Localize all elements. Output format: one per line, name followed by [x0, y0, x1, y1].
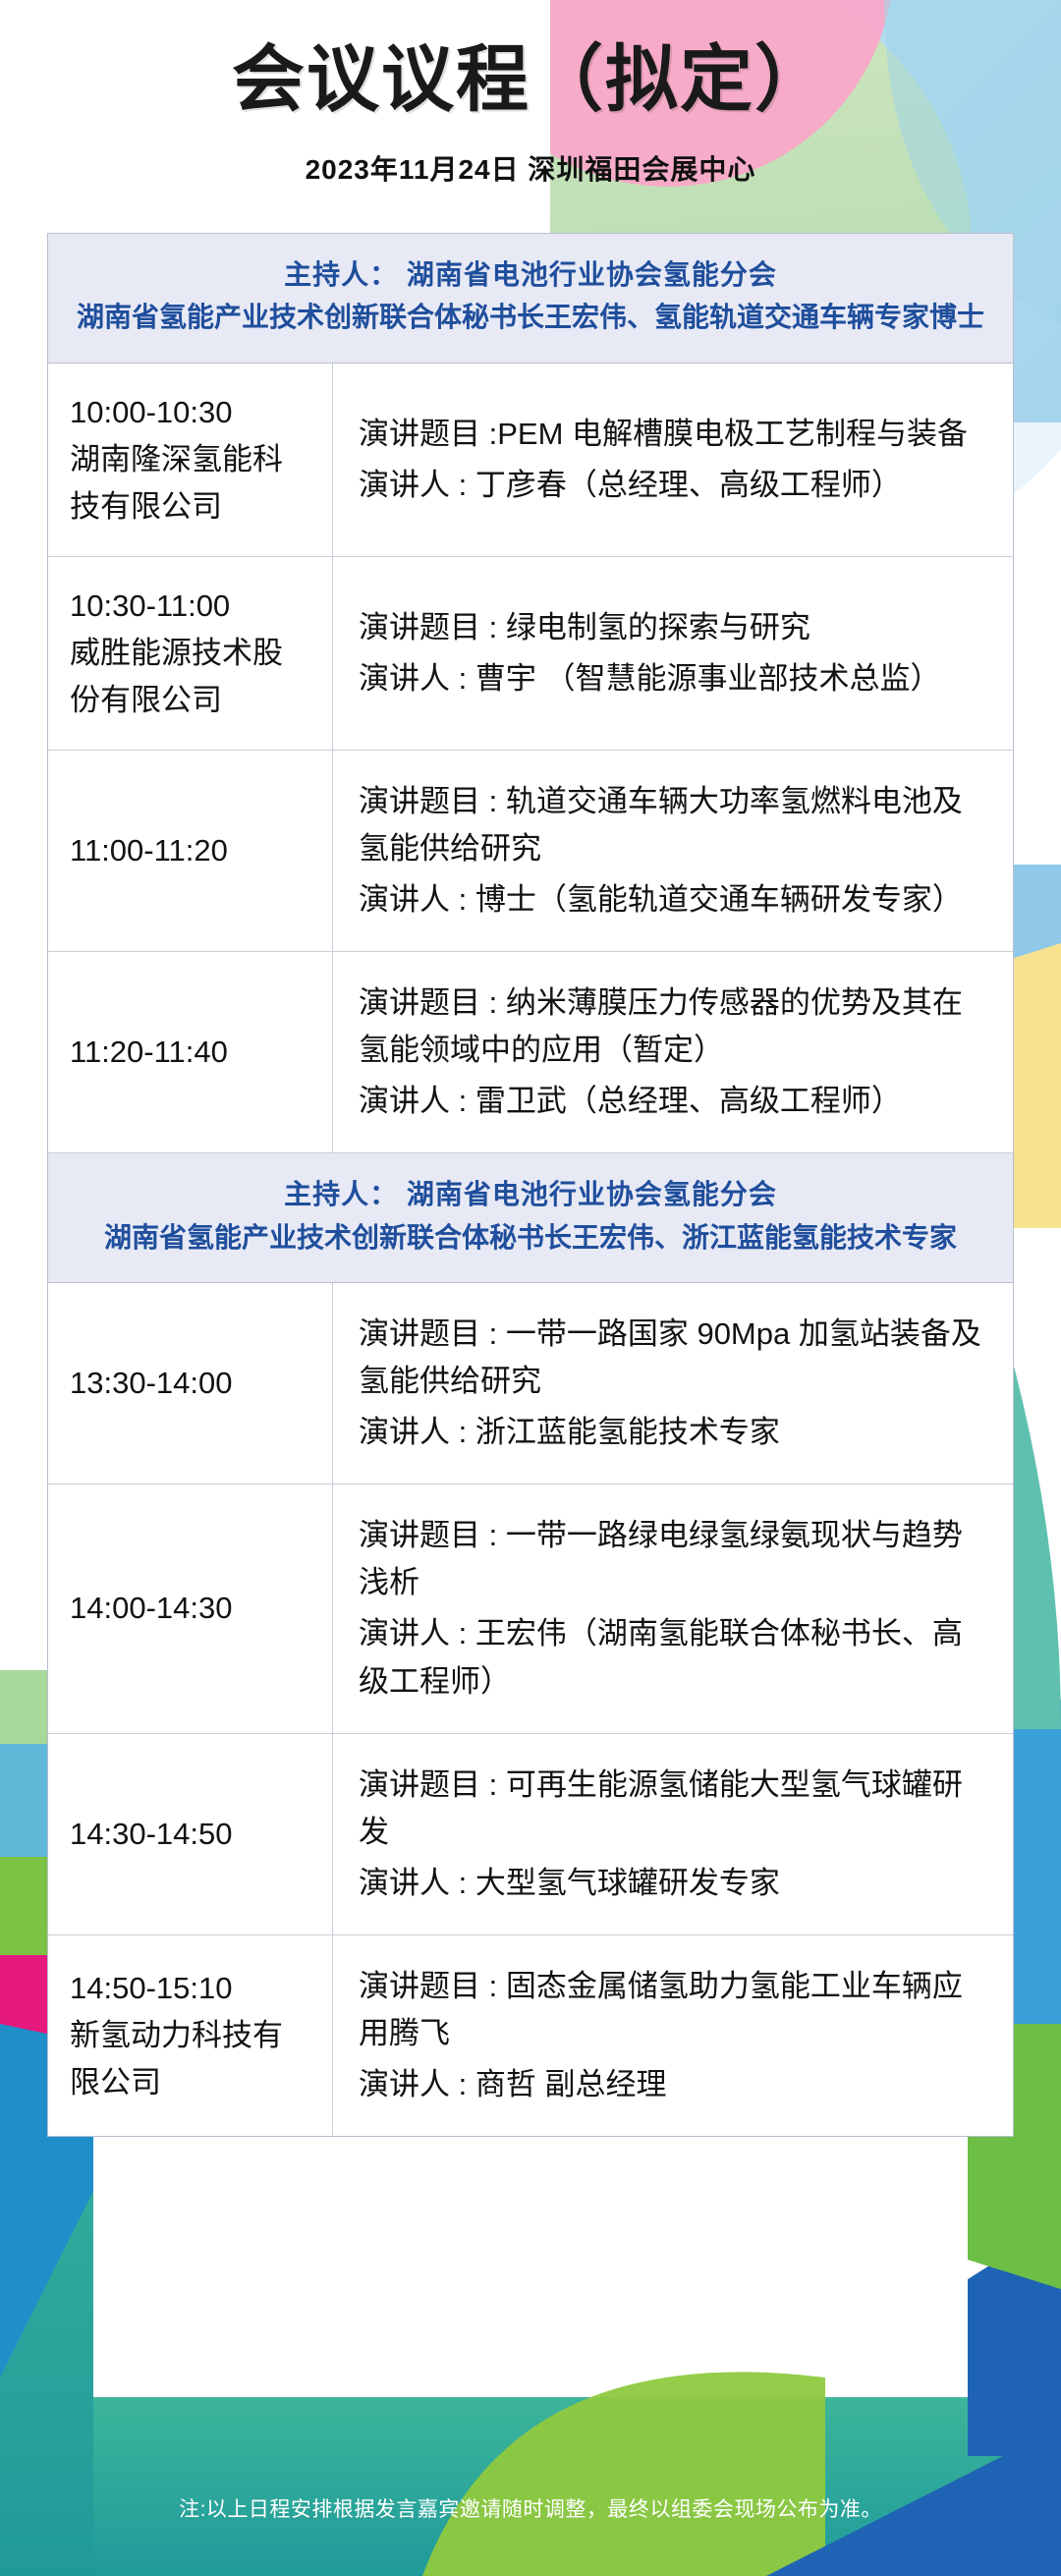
- agenda-speaker: 演讲人 : 大型氢气球罐研发专家: [359, 1860, 989, 1907]
- session-host-banner: 主持人： 湖南省电池行业协会氢能分会 湖南省氢能产业技术创新联合体秘书长王宏伟、…: [48, 1153, 1013, 1283]
- agenda-time: 11:20-11:40: [70, 1029, 310, 1076]
- table-row: 14:30-14:50 演讲题目 : 可再生能源氢储能大型氢气球罐研发 演讲人 …: [48, 1734, 1013, 1935]
- table-row: 10:00-10:30 湖南隆深氢能科技有限公司 演讲题目 :PEM 电解槽膜电…: [48, 364, 1013, 557]
- session-host-banner: 主持人： 湖南省电池行业协会氢能分会 湖南省氢能产业技术创新联合体秘书长王宏伟、…: [48, 234, 1013, 364]
- agenda-time-cell: 13:30-14:00: [48, 1283, 333, 1484]
- agenda-detail-cell: 演讲题目 : 纳米薄膜压力传感器的优势及其在氢能领域中的应用（暂定） 演讲人 :…: [333, 952, 1013, 1152]
- agenda-topic: 演讲题目 : 固态金属储氢助力氢能工业车辆应用腾飞: [359, 1963, 989, 2057]
- agenda-topic: 演讲题目 : 轨道交通车辆大功率氢燃料电池及氢能供给研究: [359, 778, 989, 872]
- host-line-2: 湖南省氢能产业技术创新联合体秘书长王宏伟、氢能轨道交通车辆专家博士: [76, 296, 985, 338]
- agenda-org: 湖南隆深氢能科技有限公司: [70, 436, 310, 531]
- agenda-time: 13:30-14:00: [70, 1360, 310, 1407]
- agenda-time-cell: 11:20-11:40: [48, 952, 333, 1152]
- agenda-topic: 演讲题目 :PEM 电解槽膜电极工艺制程与装备: [359, 411, 989, 458]
- table-row: 11:20-11:40 演讲题目 : 纳米薄膜压力传感器的优势及其在氢能领域中的…: [48, 952, 1013, 1153]
- agenda-time: 11:00-11:20: [70, 827, 310, 874]
- agenda-time: 14:30-14:50: [70, 1811, 310, 1858]
- agenda-detail-cell: 演讲题目 : 可再生能源氢储能大型氢气球罐研发 演讲人 : 大型氢气球罐研发专家: [333, 1734, 1013, 1934]
- page-subtitle: 2023年11月24日 深圳福田会展中心: [0, 148, 1061, 188]
- agenda-org: 新氢动力科技有限公司: [70, 2012, 310, 2106]
- agenda-speaker: 演讲人 : 博士（氢能轨道交通车辆研发专家）: [359, 876, 989, 924]
- agenda-speaker: 演讲人 : 商哲 副总经理: [359, 2061, 989, 2108]
- agenda-topic: 演讲题目 : 可再生能源氢储能大型氢气球罐研发: [359, 1762, 989, 1856]
- agenda-time: 14:00-14:30: [70, 1585, 310, 1632]
- table-row: 14:00-14:30 演讲题目 : 一带一路绿电绿氢绿氨现状与趋势浅析 演讲人…: [48, 1484, 1013, 1733]
- agenda-speaker: 演讲人 : 丁彦春（总经理、高级工程师）: [359, 462, 989, 509]
- host-line-1: 主持人： 湖南省电池行业协会氢能分会: [76, 253, 985, 296]
- agenda-time-cell: 14:00-14:30: [48, 1484, 333, 1732]
- agenda-speaker: 演讲人 : 浙江蓝能氢能技术专家: [359, 1409, 989, 1456]
- agenda-time-cell: 11:00-11:20: [48, 751, 333, 951]
- agenda-speaker: 演讲人 : 曹宇 （智慧能源事业部技术总监）: [359, 655, 989, 702]
- agenda-detail-cell: 演讲题目 :PEM 电解槽膜电极工艺制程与装备 演讲人 : 丁彦春（总经理、高级…: [333, 364, 1013, 556]
- page-title: 会议议程（拟定）: [0, 39, 1061, 123]
- agenda-topic: 演讲题目 : 一带一路绿电绿氢绿氨现状与趋势浅析: [359, 1512, 989, 1606]
- agenda-time-cell: 14:50-15:10 新氢动力科技有限公司: [48, 1935, 333, 2136]
- agenda-time: 10:00-10:30: [70, 389, 310, 436]
- agenda-detail-cell: 演讲题目 : 轨道交通车辆大功率氢燃料电池及氢能供给研究 演讲人 : 博士（氢能…: [333, 751, 1013, 951]
- agenda-table: 主持人： 湖南省电池行业协会氢能分会 湖南省氢能产业技术创新联合体秘书长王宏伟、…: [47, 233, 1014, 2137]
- agenda-time-cell: 14:30-14:50: [48, 1734, 333, 1934]
- poster-header: 会议议程（拟定） 2023年11月24日 深圳福田会展中心: [0, 0, 1061, 188]
- table-row: 13:30-14:00 演讲题目 : 一带一路国家 90Mpa 加氢站装备及氢能…: [48, 1283, 1013, 1484]
- agenda-detail-cell: 演讲题目 : 一带一路国家 90Mpa 加氢站装备及氢能供给研究 演讲人 : 浙…: [333, 1283, 1013, 1484]
- agenda-topic: 演讲题目 : 绿电制氢的探索与研究: [359, 604, 989, 651]
- table-row: 14:50-15:10 新氢动力科技有限公司 演讲题目 : 固态金属储氢助力氢能…: [48, 1935, 1013, 2136]
- agenda-topic: 演讲题目 : 纳米薄膜压力传感器的优势及其在氢能领域中的应用（暂定）: [359, 980, 989, 1074]
- poster-root: 会议议程（拟定） 2023年11月24日 深圳福田会展中心 主持人： 湖南省电池…: [0, 0, 1061, 2576]
- agenda-time: 10:30-11:00: [70, 583, 310, 630]
- footer-note: 注:以上日程安排根据发言嘉宾邀请随时调整，最终以组委会现场公布为准。: [0, 2493, 1061, 2523]
- host-line-2: 湖南省氢能产业技术创新联合体秘书长王宏伟、浙江蓝能氢能技术专家: [76, 1216, 985, 1259]
- agenda-time-cell: 10:30-11:00 威胜能源技术股份有限公司: [48, 557, 333, 750]
- agenda-topic: 演讲题目 : 一带一路国家 90Mpa 加氢站装备及氢能供给研究: [359, 1311, 989, 1405]
- table-row: 10:30-11:00 威胜能源技术股份有限公司 演讲题目 : 绿电制氢的探索与…: [48, 557, 1013, 751]
- agenda-speaker: 演讲人 : 雷卫武（总经理、高级工程师）: [359, 1078, 989, 1125]
- agenda-time: 14:50-15:10: [70, 1965, 310, 2012]
- agenda-detail-cell: 演讲题目 : 固态金属储氢助力氢能工业车辆应用腾飞 演讲人 : 商哲 副总经理: [333, 1935, 1013, 2136]
- table-row: 11:00-11:20 演讲题目 : 轨道交通车辆大功率氢燃料电池及氢能供给研究…: [48, 751, 1013, 952]
- agenda-org: 威胜能源技术股份有限公司: [70, 630, 310, 724]
- agenda-detail-cell: 演讲题目 : 一带一路绿电绿氢绿氨现状与趋势浅析 演讲人 : 王宏伟（湖南氢能联…: [333, 1484, 1013, 1732]
- host-line-1: 主持人： 湖南省电池行业协会氢能分会: [76, 1173, 985, 1215]
- agenda-detail-cell: 演讲题目 : 绿电制氢的探索与研究 演讲人 : 曹宇 （智慧能源事业部技术总监）: [333, 557, 1013, 750]
- agenda-speaker: 演讲人 : 王宏伟（湖南氢能联合体秘书长、高级工程师）: [359, 1610, 989, 1705]
- agenda-time-cell: 10:00-10:30 湖南隆深氢能科技有限公司: [48, 364, 333, 556]
